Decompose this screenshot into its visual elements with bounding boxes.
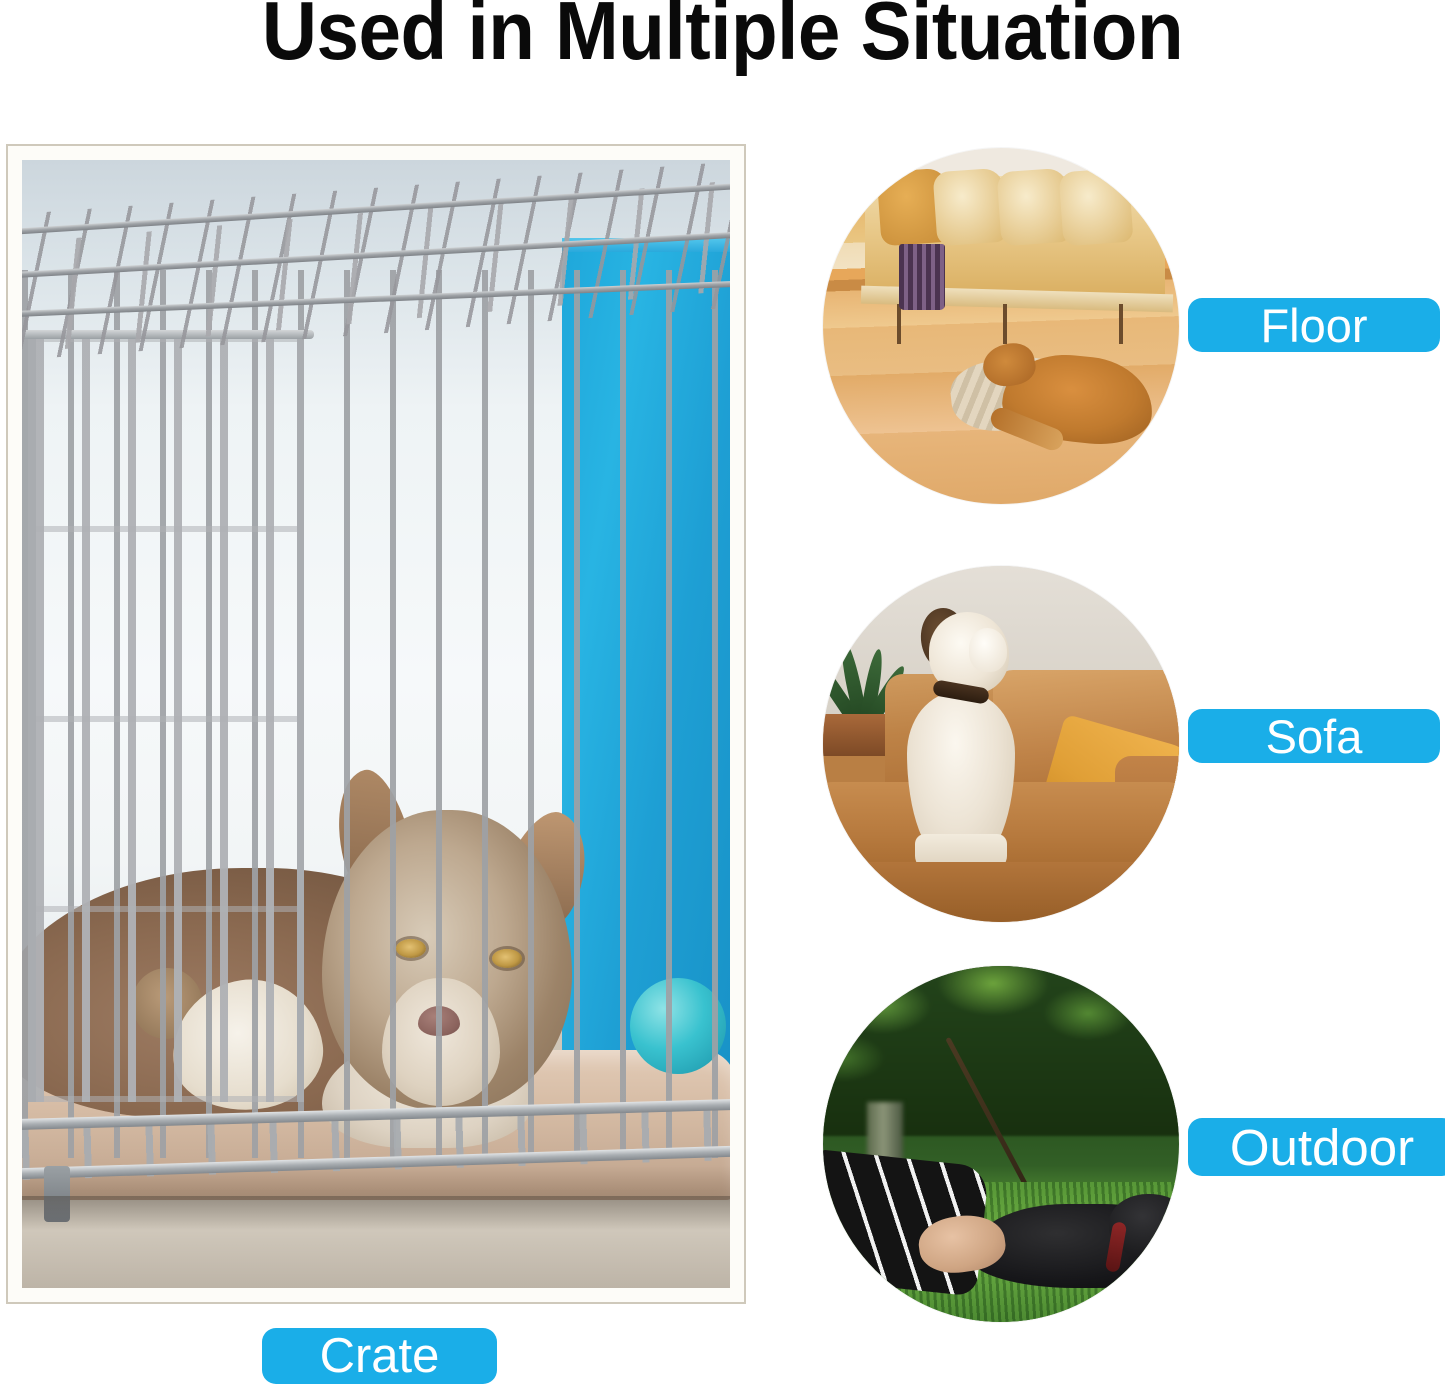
page-title: Used in Multiple Situation <box>58 0 1387 76</box>
sofa-scene <box>823 566 1179 922</box>
sofa-scene-seat-front <box>823 862 1179 922</box>
floor-scene-sofa-legs <box>883 304 1153 344</box>
crate-floor-shadow <box>22 1196 730 1230</box>
badge-outdoor: Outdoor <box>1188 1118 1445 1176</box>
situation-image-sofa <box>823 566 1179 922</box>
situation-image-floor <box>823 148 1179 504</box>
floor-scene-striped-bin <box>899 244 945 310</box>
floor-scene <box>823 148 1179 504</box>
floor-scene-cushion <box>933 168 1008 247</box>
infographic-root: Used in Multiple Situation <box>0 0 1445 1389</box>
badge-crate: Crate <box>262 1328 497 1384</box>
badge-floor: Floor <box>1188 298 1440 352</box>
crate-door-panel <box>28 336 304 1102</box>
sofa-scene-dog-face <box>969 628 1007 672</box>
floor-scene-cushion <box>1059 168 1134 247</box>
crate-photo <box>22 160 730 1288</box>
situation-image-outdoor <box>823 966 1179 1322</box>
crate-photo-frame <box>6 144 746 1304</box>
badge-sofa: Sofa <box>1188 709 1440 763</box>
outdoor-scene <box>823 966 1179 1322</box>
